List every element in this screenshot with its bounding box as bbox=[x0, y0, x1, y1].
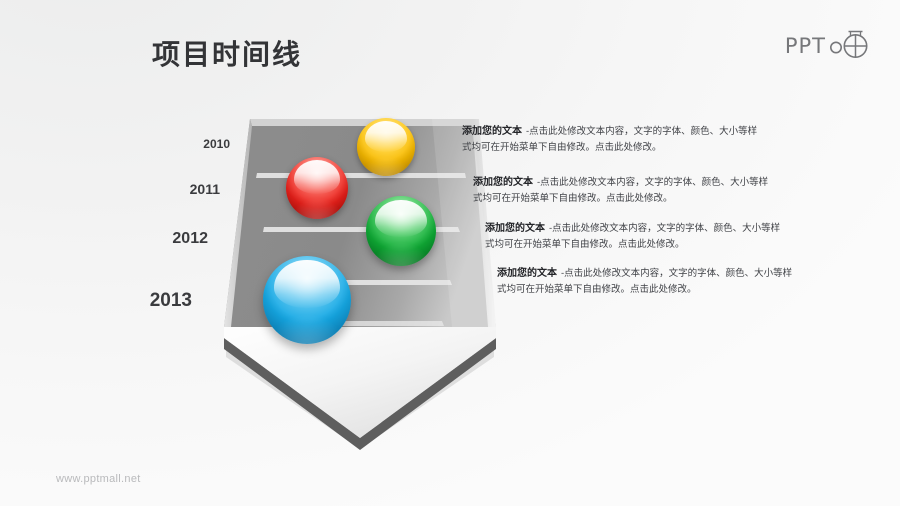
brand-logo-text: PPT bbox=[785, 34, 826, 58]
timeline-year-2012: 2012 bbox=[128, 230, 208, 248]
content-block-4-lead: 添加您的文本 bbox=[497, 268, 557, 279]
sphere-shading bbox=[357, 118, 415, 176]
sphere-shading bbox=[263, 256, 351, 344]
brand-logo: PPT bbox=[785, 28, 872, 64]
timeline-marker-green-sphere[interactable] bbox=[366, 196, 436, 266]
content-block-1[interactable]: 添加您的文本-点击此处修改文本内容，文字的字体、颜色、大小等样式均可在开始菜单下… bbox=[462, 124, 762, 156]
sphere-highlight bbox=[294, 160, 340, 193]
slide-canvas: 项目时间线 PPT 2010 2011 2012 2013 bbox=[0, 0, 900, 506]
timeline-year-3013: 2013 bbox=[112, 290, 192, 312]
page-title: 项目时间线 bbox=[152, 33, 302, 73]
content-block-4[interactable]: 添加您的文本-点击此处修改文本内容，文字的字体、颜色、大小等样式均可在开始菜单下… bbox=[497, 266, 797, 298]
footer-url[interactable]: www.pptmall.net bbox=[56, 473, 141, 485]
content-block-1-lead: 添加您的文本 bbox=[462, 126, 522, 137]
timeline-marker-red-sphere[interactable] bbox=[286, 157, 348, 219]
content-block-2-lead: 添加您的文本 bbox=[473, 177, 533, 188]
sphere-highlight bbox=[375, 200, 427, 238]
sphere-highlight bbox=[274, 260, 339, 308]
sphere-highlight bbox=[365, 121, 408, 152]
content-block-3[interactable]: 添加您的文本-点击此处修改文本内容，文字的字体、颜色、大小等样式均可在开始菜单下… bbox=[485, 221, 785, 253]
content-block-2[interactable]: 添加您的文本-点击此处修改文本内容，文字的字体、颜色、大小等样式均可在开始菜单下… bbox=[473, 175, 773, 207]
content-block-3-lead: 添加您的文本 bbox=[485, 223, 545, 234]
globe-crosshair-icon bbox=[828, 27, 872, 66]
timeline-marker-blue-sphere[interactable] bbox=[263, 256, 351, 344]
sphere-shading bbox=[366, 196, 436, 266]
timeline-marker-yellow-sphere[interactable] bbox=[357, 118, 415, 176]
sphere-shading bbox=[286, 157, 348, 219]
